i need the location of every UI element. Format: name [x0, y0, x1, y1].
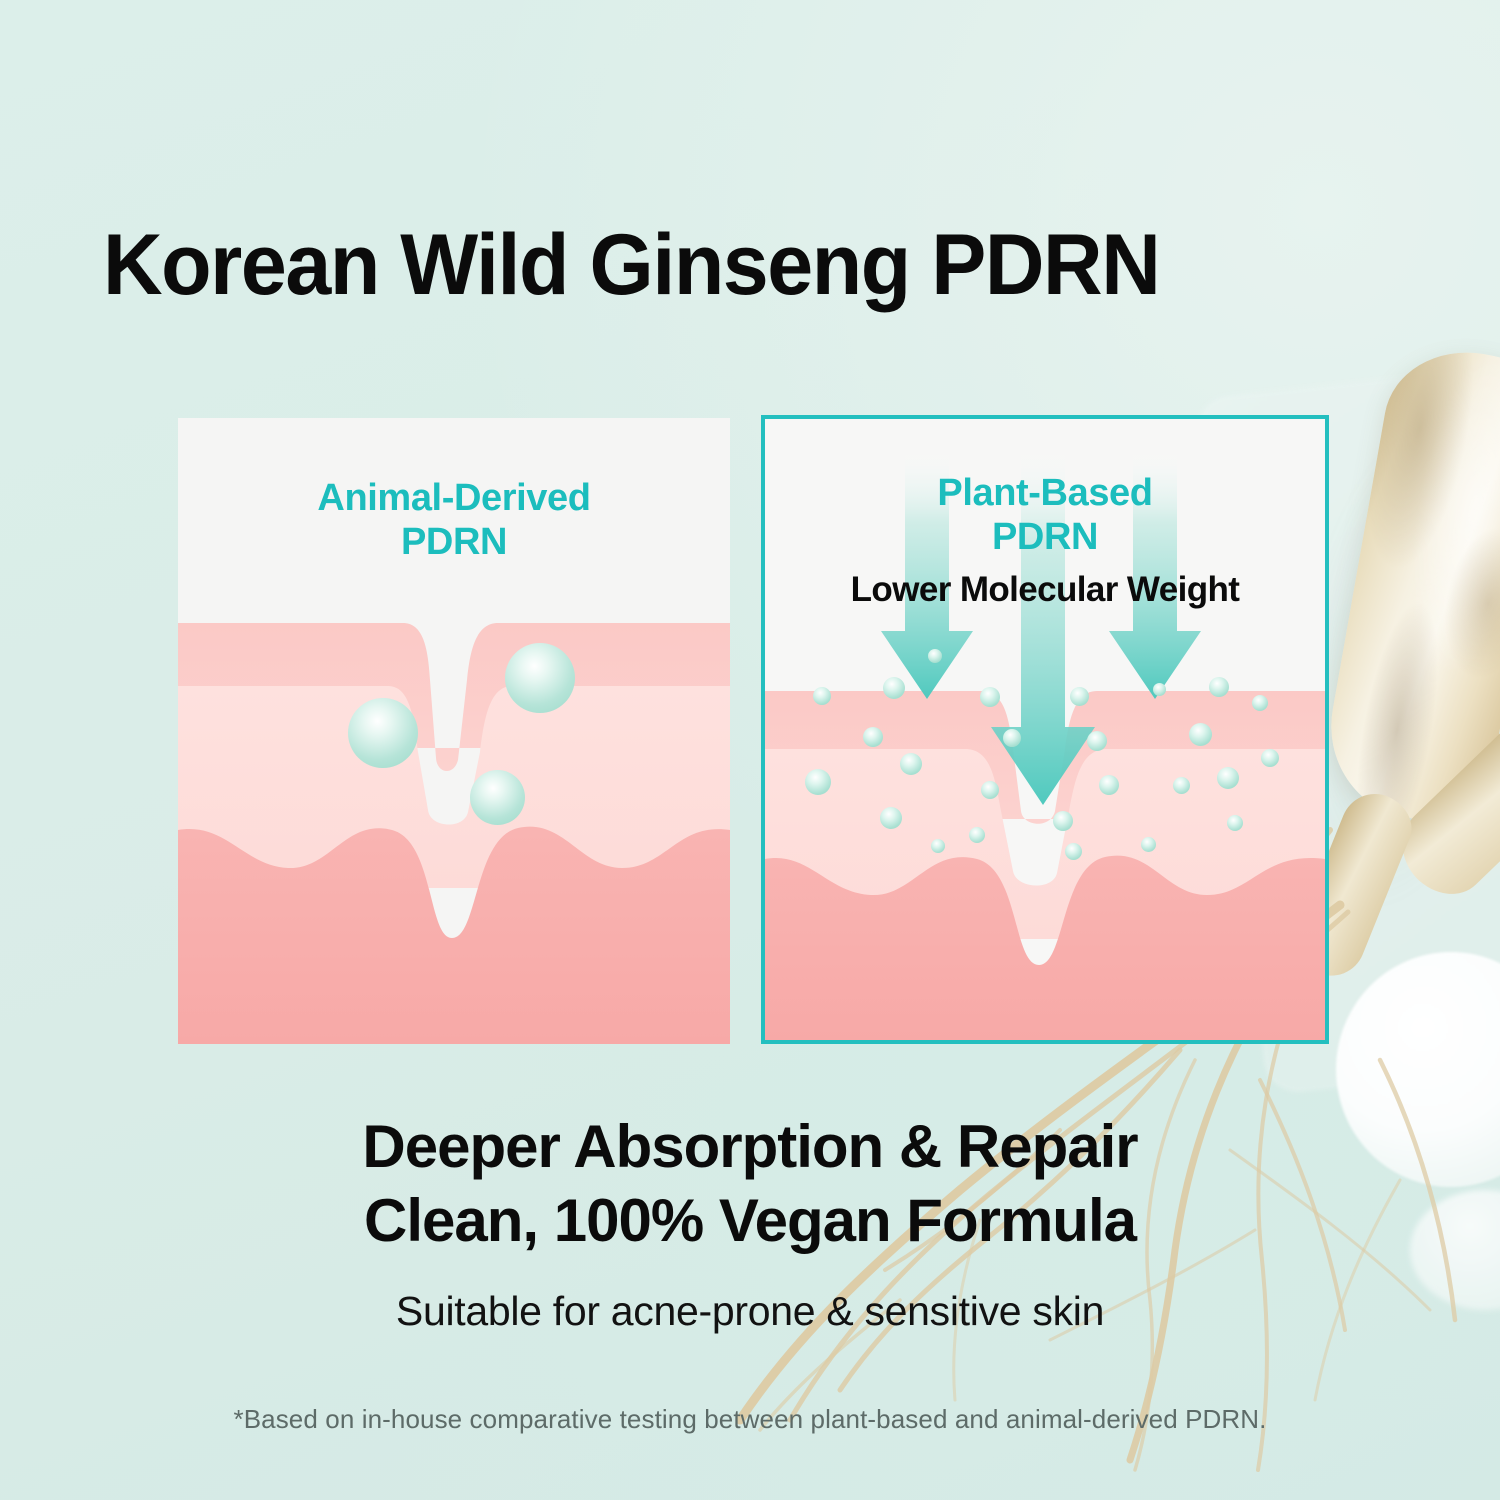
pdrn-particle [1070, 687, 1089, 706]
ginseng-root-body [1316, 339, 1500, 831]
panel-plant-title-line2: PDRN [992, 516, 1098, 558]
pdrn-particle [1189, 723, 1212, 746]
pdrn-particle [883, 677, 905, 699]
panel-animal-derived-pdrn: Animal-Derived PDRN [178, 418, 730, 1044]
pdrn-particle [1141, 837, 1156, 852]
pdrn-particle [1053, 811, 1073, 831]
pdrn-particle [1209, 677, 1229, 697]
footnote-text: *Based on in-house comparative testing b… [233, 1404, 1266, 1435]
white-stone-blob-small [1410, 1190, 1500, 1310]
pdrn-particle [805, 769, 831, 795]
pdrn-particle [980, 687, 1000, 707]
panel-plant-based-pdrn: Plant-Based PDRN Lower Molecular Weight [761, 415, 1329, 1044]
pdrn-particle [981, 781, 999, 799]
pdrn-particle [1217, 767, 1239, 789]
pdrn-particle [1261, 749, 1279, 767]
claim-line-2: Clean, 100% Vegan Formula [364, 1186, 1136, 1256]
pdrn-particle [900, 753, 922, 775]
pdrn-particle [880, 807, 902, 829]
page-title: Korean Wild Ginseng PDRN [103, 216, 1159, 315]
pdrn-particle [1065, 843, 1082, 860]
white-stone-blob [1336, 952, 1500, 1187]
panel-plant-title: Plant-Based PDRN [765, 471, 1325, 559]
pdrn-particle [813, 687, 831, 705]
pdrn-particle [1173, 777, 1190, 794]
panel-animal-title-line1: Animal-Derived [317, 477, 590, 519]
pdrn-particle [863, 727, 883, 747]
pdrn-particle [931, 839, 945, 853]
panel-plant-header: Plant-Based PDRN Lower Molecular Weight [765, 471, 1325, 611]
pdrn-particle [1099, 775, 1119, 795]
ginseng-root-branch-right [1385, 699, 1500, 911]
pdrn-particle [1227, 815, 1243, 831]
pdrn-sphere-large-2 [505, 643, 575, 713]
pdrn-sphere-large-1 [348, 698, 418, 768]
panel-plant-subtitle: Lower Molecular Weight [765, 569, 1325, 611]
pdrn-sphere-large-3 [470, 770, 525, 825]
pdrn-particle [1087, 731, 1107, 751]
subclaim-text: Suitable for acne-prone & sensitive skin [396, 1288, 1104, 1335]
pdrn-particle [1252, 695, 1268, 711]
panel-animal-title-line2: PDRN [401, 521, 507, 563]
pdrn-particle [1153, 683, 1166, 696]
infographic-canvas: Korean Wild Ginseng PDRN [0, 0, 1500, 1500]
claim-line-1: Deeper Absorption & Repair [362, 1112, 1137, 1182]
pdrn-particle [928, 649, 942, 663]
panel-animal-title: Animal-Derived PDRN [178, 476, 730, 564]
panel-plant-title-line1: Plant-Based [937, 472, 1152, 514]
panel-animal-header: Animal-Derived PDRN [178, 476, 730, 564]
pdrn-particle [1003, 729, 1021, 747]
pdrn-particle [969, 827, 985, 843]
